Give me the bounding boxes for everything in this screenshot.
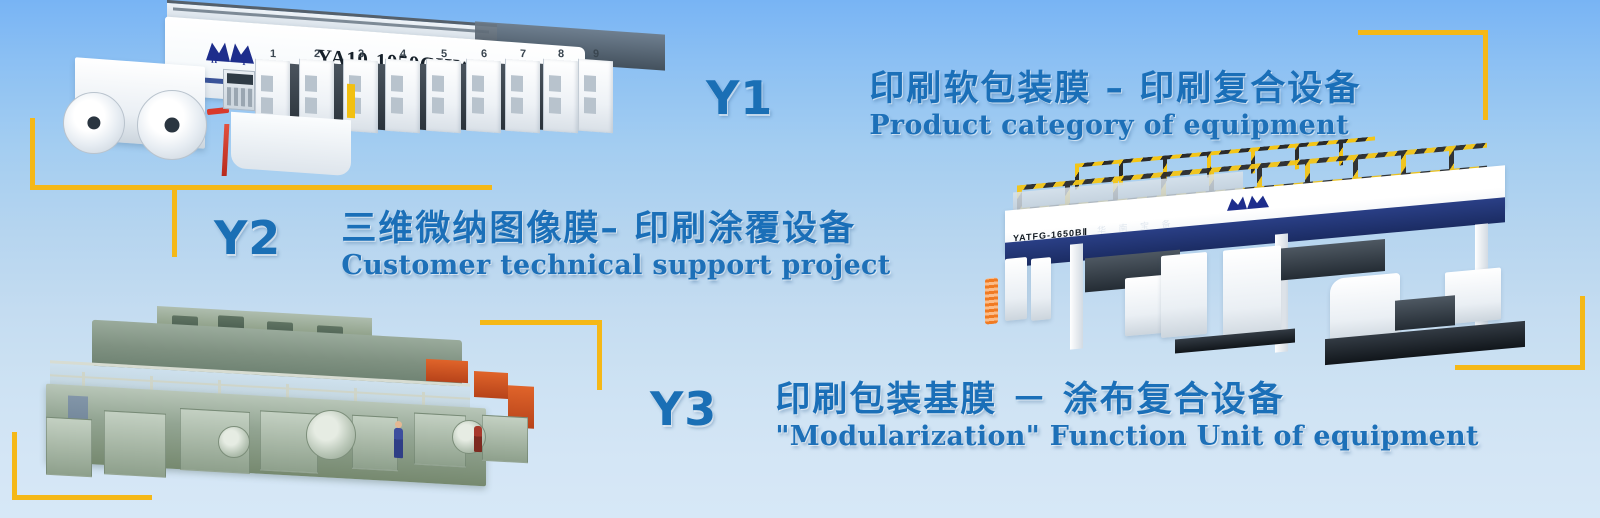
entry-y3: Y3 印刷包装基膜 － 涂布复合设备 "Modularization" Func… [650,383,1479,453]
machine2-cabinet [1223,245,1281,342]
entry-y1-cn-title: 印刷软包装膜 – 印刷复合设备 [869,68,1361,110]
machine1-print-unit: 4 [385,59,420,134]
machine3-worker [394,428,403,459]
machine1-print-unit: 6 [466,59,501,134]
machine3-orange-part [474,371,508,399]
machine3-section [46,417,92,478]
machine1-film-roll [137,90,207,160]
machine1-print-unit: 8 [543,59,578,134]
machine2-column [1070,243,1083,349]
machine3-drum [306,410,356,460]
entry-y2-code: Y2 [214,212,281,264]
machine3-section [352,415,398,472]
entry-y3-code: Y3 [650,383,717,435]
machine3-orange-part [426,359,468,383]
machine-coating-laminating-line: YATFG-1650BⅡ 华 南 宝 备 [975,158,1565,363]
entry-y2: Y2 三维微纳图像膜– 印刷涂覆设备 Customer technical su… [214,212,891,282]
machine-green-coater-line [22,300,582,492]
machine3-section [104,410,166,477]
machine1-brand-logo: H Y [203,38,257,68]
machine1-film-roll [63,92,125,154]
machine-gravure-printing-press: H Y YA10-1050CIIW 1 2 3 4 5 6 7 8 9 [55,4,600,174]
entry-y3-en-subtitle: "Modularization" Function Unit of equipm… [775,421,1478,453]
machine2-cabinet [1161,252,1207,338]
machine1-red-cable [222,124,230,176]
entry-y2-en-subtitle: Customer technical support project [341,250,890,282]
machine1-lower-skirt [231,112,351,176]
machine2-drive-unit [1395,295,1455,330]
entry-y1: Y1 印刷软包装膜 – 印刷复合设备 Product category of e… [706,72,1361,142]
machine1-print-unit: 5 [426,59,461,134]
machine2-cabinet [1031,257,1051,321]
equipment-banner: H Y YA10-1050CIIW 1 2 3 4 5 6 7 8 9 [0,0,1600,518]
svg-text:Y: Y [241,58,247,67]
entry-y3-cn-title: 印刷包装基膜 － 涂布复合设备 [775,379,1478,421]
svg-text:H: H [211,56,218,66]
machine2-orange-hose [985,277,998,324]
bracket-top-right [1358,30,1488,120]
machine1-print-unit: 7 [505,59,540,134]
machine1-control-panel [223,69,255,111]
machine1-yellow-indicator [347,84,355,119]
machine3-section [482,415,528,464]
entry-y2-cn-title: 三维微纳图像膜– 印刷涂覆设备 [341,208,890,250]
entry-y1-code: Y1 [706,72,773,124]
machine3-worker [474,426,482,452]
machine3-drum [218,426,250,458]
machine1-print-unit: 9 [578,59,613,134]
machine2-cabinet [1005,257,1027,321]
entry-y1-en-subtitle: Product category of equipment [869,110,1361,142]
